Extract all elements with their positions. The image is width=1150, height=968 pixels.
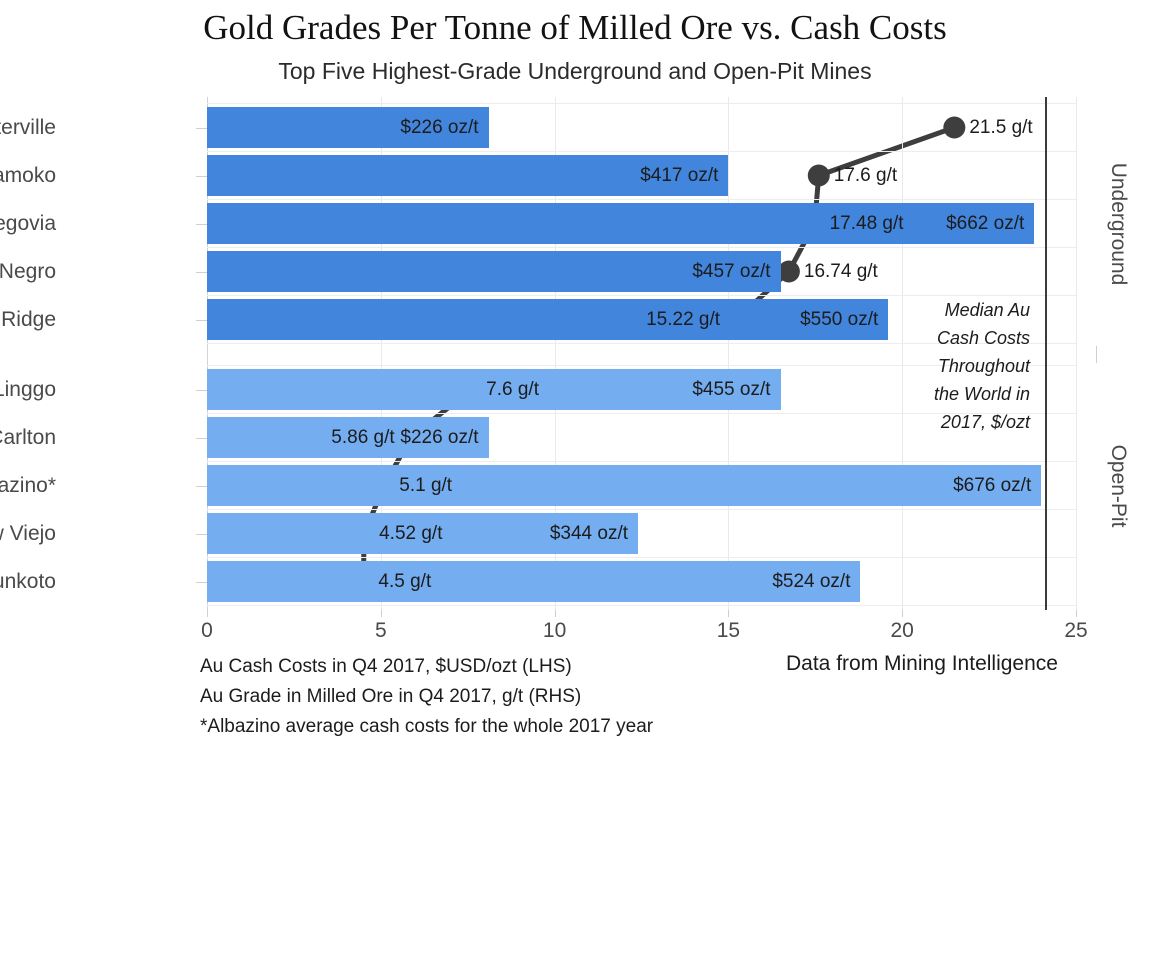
grade-label: 5.1 g/t <box>399 465 452 506</box>
category-tick <box>196 438 207 439</box>
x-tick <box>381 610 382 617</box>
category-tick <box>196 272 207 273</box>
median-annotation-line: Median Au <box>880 296 1030 324</box>
chart-row: $226 oz/t21.5 g/t <box>207 107 1076 148</box>
x-tick-label-5: 5 <box>375 619 387 643</box>
grade-label: 4.5 g/t <box>378 561 431 602</box>
median-annotation-line: 2017, $/ozt <box>880 408 1030 436</box>
footnote-line: Au Cash Costs in Q4 2017, $USD/ozt (LHS) <box>200 652 653 682</box>
category-label-way-linggo: Way Linggo <box>0 369 56 410</box>
category-label-albazino: Albazino* <box>0 465 56 506</box>
group-label-open-pit: Open-Pit <box>1106 369 1130 602</box>
median-annotation-line: Cash Costs <box>880 324 1030 352</box>
gridline-y-3-0 <box>207 247 1076 248</box>
x-tick <box>902 610 903 617</box>
grade-label: 15.22 g/t <box>207 299 720 340</box>
category-label-pueblow-viejo: Pueblow Viejo <box>0 513 56 554</box>
x-tick-label-25: 25 <box>1064 619 1087 643</box>
median-cash-cost-annotation: Median AuCash CostsThroughoutthe World i… <box>880 296 1030 436</box>
chart-row: $457 oz/t16.74 g/t <box>207 251 1076 292</box>
x-tick-label-15: 15 <box>717 619 740 643</box>
category-label-fosterville: Fosterville <box>0 107 56 148</box>
group-label-underground: Underground <box>1106 107 1130 340</box>
cost-label: $226 oz/t <box>207 107 479 148</box>
category-tick <box>196 390 207 391</box>
category-label-segovia: Segovia <box>0 203 56 244</box>
x-tick <box>1076 610 1077 617</box>
grade-label: 17.48 g/t <box>830 203 904 244</box>
grade-label: 7.6 g/t <box>486 369 539 410</box>
grade-label: 4.52 g/t <box>379 513 442 554</box>
gridline-y-9-1 <box>207 605 1076 606</box>
category-tick <box>196 582 207 583</box>
median-annotation-line: the World in <box>880 380 1030 408</box>
group-separator-tick <box>1096 346 1097 363</box>
cost-label: $524 oz/t <box>207 561 850 602</box>
gridline-y-9-0 <box>207 557 1076 558</box>
grade-label: 17.6 g/t <box>834 155 897 196</box>
median-annotation-line: Throughout <box>880 352 1030 380</box>
category-tick <box>196 320 207 321</box>
gridline-y-1-0 <box>207 151 1076 152</box>
category-label-turquoise-ridge: Turquoise Ridge <box>0 299 56 340</box>
category-tick <box>196 486 207 487</box>
gridline-y-0-0 <box>207 103 1076 104</box>
x-tick-label-10: 10 <box>543 619 566 643</box>
x-tick <box>207 610 208 617</box>
x-tick-label-0: 0 <box>201 619 213 643</box>
footnotes: Au Cash Costs in Q4 2017, $USD/ozt (LHS)… <box>200 652 653 742</box>
page-title: Gold Grades Per Tonne of Milled Ore vs. … <box>0 8 1150 48</box>
cost-label: $417 oz/t <box>207 155 718 196</box>
gridline-y-8-0 <box>207 509 1076 510</box>
footnote-line: *Albazino average cash costs for the who… <box>200 712 653 742</box>
x-tick <box>555 610 556 617</box>
cost-label: $457 oz/t <box>207 251 771 292</box>
chart-row: $344 oz/t4.52 g/t <box>207 513 1076 554</box>
footnote-line: Au Grade in Milled Ore in Q4 2017, g/t (… <box>200 682 653 712</box>
chart-row: $524 oz/t4.5 g/t <box>207 561 1076 602</box>
grade-label: 16.74 g/t <box>804 251 878 292</box>
x-tick <box>728 610 729 617</box>
cost-label: $676 oz/t <box>207 465 1031 506</box>
x-tick-label-20: 20 <box>891 619 914 643</box>
chart-row: $417 oz/t17.6 g/t <box>207 155 1076 196</box>
category-tick <box>196 128 207 129</box>
gridline-y-7-0 <box>207 461 1076 462</box>
category-label-yaramoko: Yaramoko <box>0 155 56 196</box>
category-tick <box>196 224 207 225</box>
gridline-y-2-0 <box>207 199 1076 200</box>
category-tick <box>196 176 207 177</box>
median-cash-cost-line <box>1045 97 1047 610</box>
gridline-x-25 <box>1076 97 1077 610</box>
grade-label: 5.86 g/t <box>207 417 395 458</box>
source-note: Data from Mining Intelligence <box>786 652 1058 676</box>
chart-row: $662 oz/t17.48 g/t <box>207 203 1076 244</box>
category-tick <box>196 534 207 535</box>
category-label-gounkoto: Gounkoto <box>0 561 56 602</box>
category-label-cerro-negro: Cerro Negro <box>0 251 56 292</box>
chart-row: $676 oz/t5.1 g/t <box>207 465 1076 506</box>
x-axis: 0510152025 <box>207 610 1076 650</box>
chart-subtitle: Top Five Highest-Grade Underground and O… <box>0 58 1150 85</box>
category-label-mt-carlton: Mt Carlton <box>0 417 56 458</box>
grade-label: 21.5 g/t <box>969 107 1032 148</box>
